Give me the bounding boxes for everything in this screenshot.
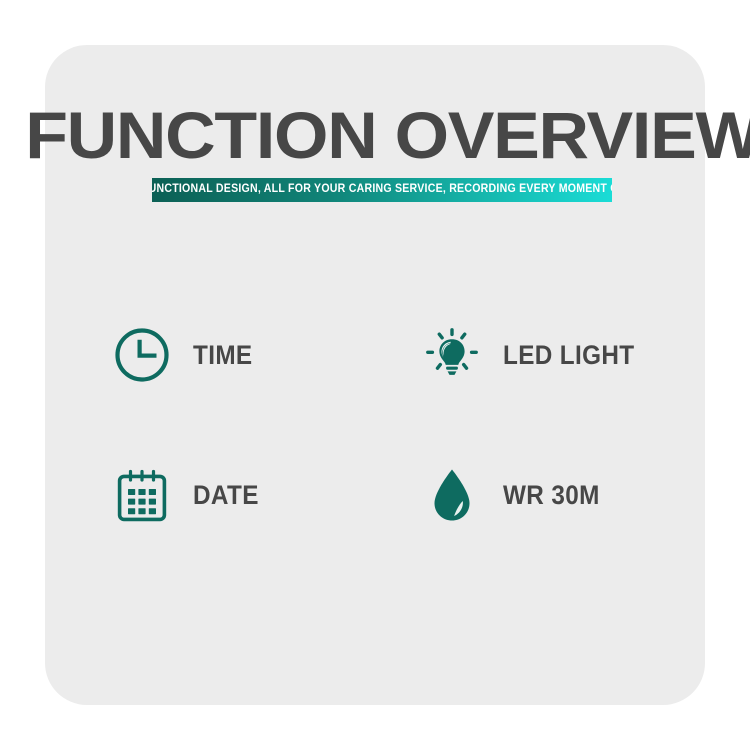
feature-item-led-light[interactable]: LED LIGHT <box>423 315 649 395</box>
feature-item-time[interactable]: TIME <box>113 315 259 395</box>
water-drop-icon <box>423 466 481 524</box>
feature-item-water-resistance[interactable]: WR 30M <box>423 455 610 535</box>
feature-label-date: DATE <box>193 482 259 509</box>
product-feature-graphic: FUNCTION OVERVIEW EACH FUNCTIONAL DESIGN… <box>0 0 750 750</box>
feature-item-date[interactable]: DATE <box>113 455 266 535</box>
feature-card: FUNCTION OVERVIEW EACH FUNCTIONAL DESIGN… <box>45 45 705 705</box>
lightbulb-icon <box>423 326 481 384</box>
calendar-icon <box>113 466 171 524</box>
subtitle-text: EACH FUNCTIONAL DESIGN, ALL FOR YOUR CAR… <box>152 184 612 196</box>
clock-icon <box>113 326 171 384</box>
feature-label-led-light: LED LIGHT <box>503 342 634 369</box>
subtitle-banner: EACH FUNCTIONAL DESIGN, ALL FOR YOUR CAR… <box>152 178 612 202</box>
feature-label-water-resistance: WR 30M <box>503 482 600 509</box>
feature-label-time: TIME <box>193 342 252 369</box>
page-title: FUNCTION OVERVIEW <box>25 102 725 168</box>
feature-grid: TIME <box>45 290 705 540</box>
